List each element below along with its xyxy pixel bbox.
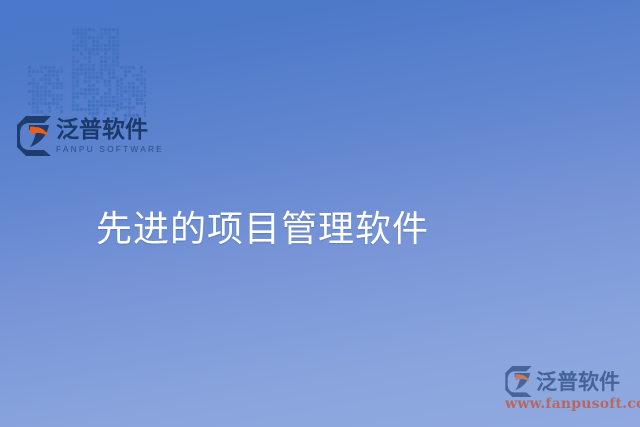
watermark-url: www.fanpusoft.com: [505, 396, 637, 413]
fanpu-hexagon-logo-icon: [505, 366, 532, 397]
brand-name-cn: 泛普软件: [56, 118, 164, 143]
watermark-logo-row: 泛普软件: [505, 366, 637, 397]
watermark-name-cn: 泛普软件: [536, 370, 620, 394]
watermark: 泛普软件 www.fanpusoft.com: [505, 366, 637, 413]
brand-logo-text: 泛普软件 FANPU SOFTWARE: [56, 118, 164, 155]
page-title: 先进的项目管理软件: [96, 209, 429, 251]
fanpu-hexagon-logo-icon: [17, 116, 51, 156]
slide-canvas: 泛普软件 FANPU SOFTWARE 先进的项目管理软件 泛普软件 www.f…: [0, 0, 640, 427]
pixel-city-skyline-icon: [26, 26, 146, 122]
brand-name-en: FANPU SOFTWARE: [56, 144, 164, 155]
brand-logo: 泛普软件 FANPU SOFTWARE: [17, 116, 164, 156]
